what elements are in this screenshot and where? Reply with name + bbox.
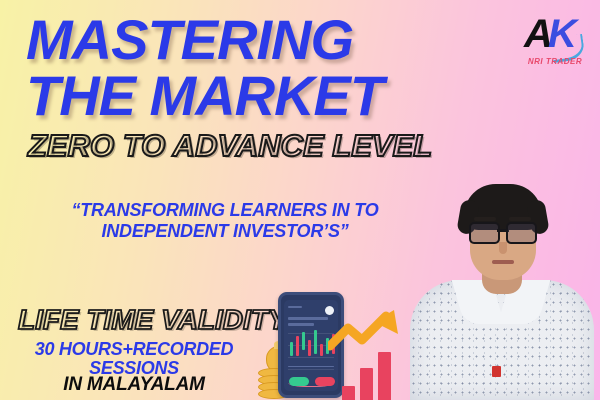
logo-brand-text: NRI TRADER: [522, 57, 588, 66]
course-language-text: IN MALAYALAM: [24, 375, 244, 394]
logo-letter-a: A: [524, 14, 551, 54]
quote-line-1: “TRANSFORMING LEARNERS IN TO: [40, 200, 410, 221]
nose: [499, 242, 507, 254]
rising-arrow-icon: [328, 308, 406, 354]
candlestick: [302, 332, 305, 350]
sell-button[interactable]: [315, 377, 335, 386]
candlestick: [290, 342, 293, 356]
course-hours-text: 30 HOURS+RECORDED SESSIONS: [24, 340, 244, 377]
brand-logo: A K NRI TRADER: [522, 14, 588, 76]
candlestick: [320, 344, 323, 356]
buy-button[interactable]: [289, 377, 309, 386]
shirt-logo-patch: [492, 366, 501, 377]
promotional-poster: A K NRI TRADER MASTERING THE MARKET ZERO…: [0, 0, 600, 400]
candlestick: [296, 336, 299, 356]
chart-bar: [360, 368, 373, 400]
candlestick: [308, 340, 311, 356]
course-hours-line-1: 30 HOURS+RECORDED: [35, 339, 233, 359]
chart-bar: [378, 352, 391, 400]
eyeglasses-icon: [466, 222, 540, 240]
lens-left: [469, 222, 500, 244]
instructor-photo: [404, 168, 600, 400]
eyebrow-right: [509, 217, 531, 221]
lens-right: [506, 222, 537, 244]
shirt: [410, 280, 594, 400]
page-title: MASTERING THE MARKET: [26, 14, 383, 122]
headline-line-1: MASTERING: [26, 14, 383, 66]
candlestick: [314, 330, 317, 354]
quote-line-2: INDEPENDENT INVESTOR’S”: [40, 221, 410, 242]
subtitle-outline-text: ZERO TO ADVANCE LEVEL: [28, 130, 432, 161]
headline-line-2: THE MARKET: [26, 70, 383, 122]
logo-monogram: A K: [522, 14, 588, 56]
tagline-quote: “TRANSFORMING LEARNERS IN TO INDEPENDENT…: [40, 200, 410, 242]
lifetime-validity-badge: LIFE TIME VALIDITY: [18, 306, 287, 334]
mouth: [492, 260, 514, 264]
chart-bar: [342, 386, 355, 400]
eyebrow-left: [474, 217, 496, 221]
